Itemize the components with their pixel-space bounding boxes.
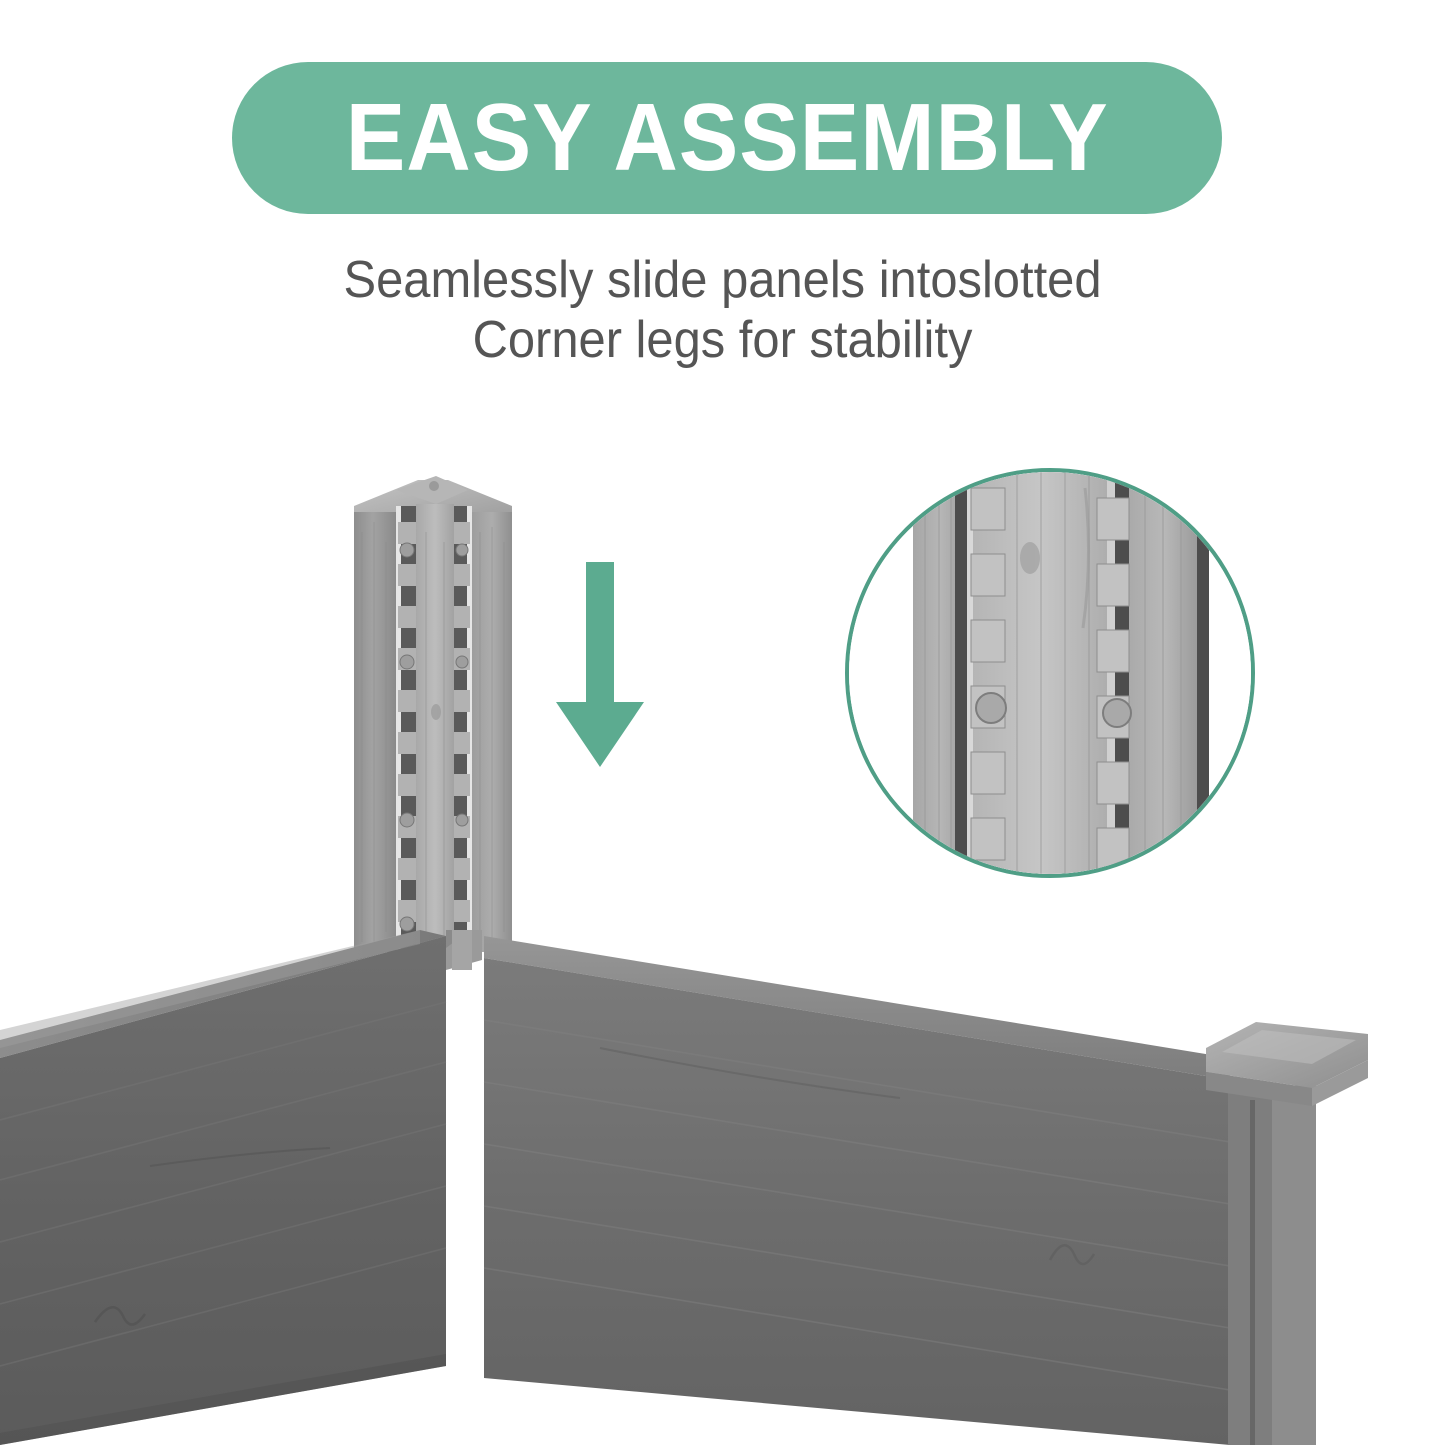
screw-icon — [976, 693, 1006, 723]
header-banner: EASY ASSEMBLY — [232, 62, 1222, 214]
subtitle-line-1: Seamlessly slide panels intoslotted — [43, 250, 1401, 310]
post-cap — [1206, 1022, 1368, 1106]
banner-title: EASY ASSEMBLY — [346, 90, 1109, 186]
right-corner-leg — [1228, 1080, 1316, 1445]
down-arrow-icon — [546, 562, 654, 767]
corner-post-illustration — [340, 472, 530, 967]
subtitle-block: Seamlessly slide panels intoslotted Corn… — [43, 250, 1401, 371]
planter-illustration — [0, 930, 1445, 1445]
subtitle-line-2: Corner legs for stability — [43, 310, 1401, 370]
screw-icon — [1103, 699, 1131, 727]
magnified-detail-circle — [845, 468, 1255, 878]
corner-post-graphic — [340, 472, 530, 967]
infographic-canvas: EASY ASSEMBLY Seamlessly slide panels in… — [0, 0, 1445, 1445]
planter-graphic — [0, 930, 1445, 1445]
magnified-detail-content — [845, 468, 1255, 878]
